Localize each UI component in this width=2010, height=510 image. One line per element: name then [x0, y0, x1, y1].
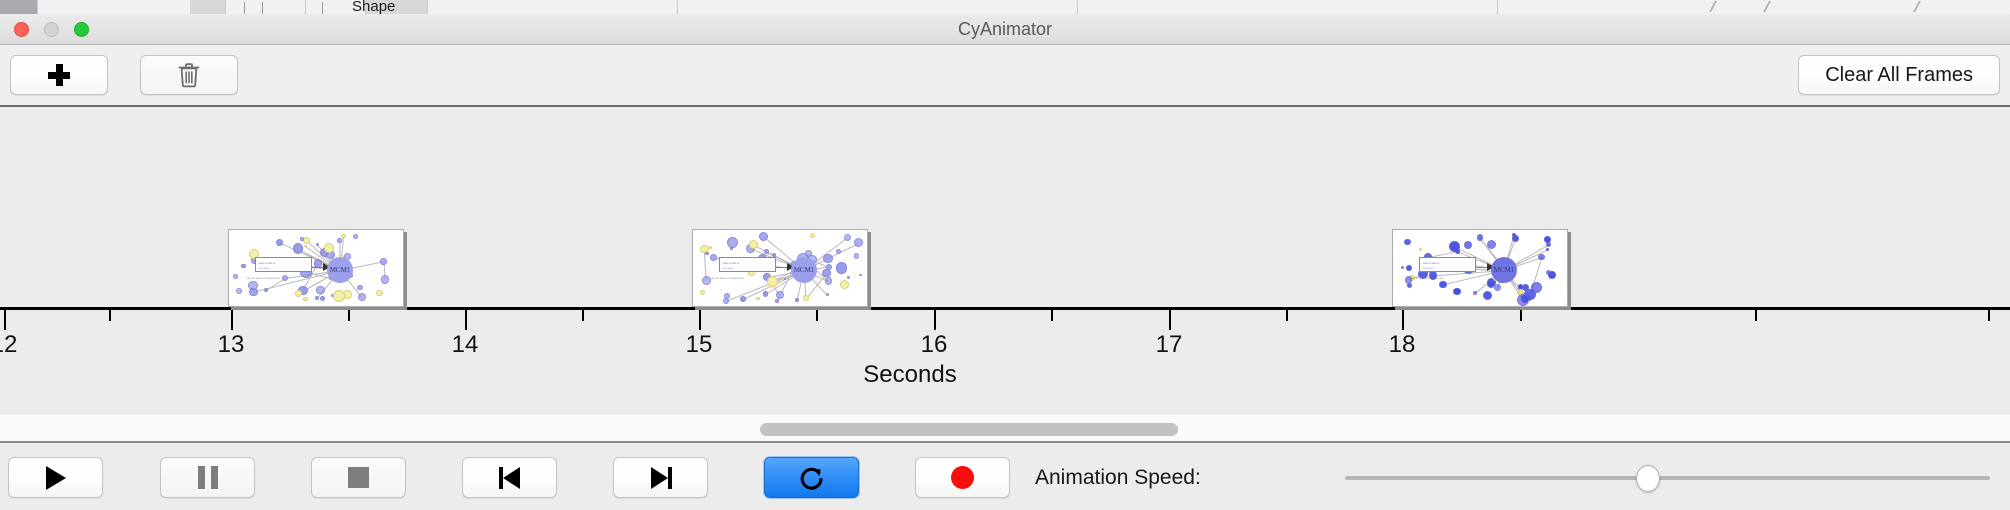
graph-node — [241, 264, 245, 268]
axis-tick-label: 12 — [0, 331, 17, 359]
play-icon — [46, 466, 66, 490]
graph-node — [775, 299, 778, 302]
animation-speed-label: Animation Speed: — [1035, 457, 1201, 498]
background-window-label: Shape — [352, 0, 395, 14]
graph-node — [756, 297, 760, 301]
graph-node — [1494, 284, 1501, 291]
skip-forward-icon — [649, 466, 673, 490]
axis-tick-minor — [1286, 310, 1288, 321]
cyanimator-window: Shape CyAnimator Clear All Frames — [0, 0, 2010, 510]
timeline-panel[interactable]: 12131415161718 ••••• •• •••• ••••• •••••… — [0, 109, 2010, 413]
axis-tick-major — [231, 310, 233, 330]
graph-node — [320, 296, 325, 301]
graph-caption: •••• ••• •••••• •• •••••••• •••• — [711, 276, 744, 280]
graph-node — [767, 276, 778, 287]
loop-button[interactable] — [764, 457, 859, 498]
slider-thumb[interactable] — [1636, 465, 1660, 492]
timeline-axis — [0, 307, 2010, 310]
graph-node — [1522, 284, 1529, 291]
graph-node — [836, 249, 841, 254]
graph-node — [822, 269, 831, 278]
add-frame-button[interactable] — [10, 55, 108, 95]
axis-tick-major — [934, 310, 936, 330]
frame-toolbar: Clear All Frames — [0, 45, 2010, 107]
network-graph: ••••• •• •••• ••••• •••••••••• ••• •••••… — [693, 230, 867, 306]
callout-text: ••••• •• •••• •• — [723, 261, 739, 265]
callout-subtext: ••• •••••• — [259, 266, 269, 270]
axis-tick-major — [1169, 310, 1171, 330]
axis-tick-label: 15 — [686, 331, 713, 359]
graph-node — [1473, 291, 1477, 295]
graph-node — [282, 275, 289, 282]
node-callout: ••••• •• •••• ••••• •••••• — [719, 257, 776, 272]
graph-caption: •••• ••• •••••• •• •••••••• •••• — [1411, 276, 1444, 280]
graph-node — [341, 234, 345, 238]
graph-node — [304, 245, 307, 248]
graph-node — [847, 276, 850, 279]
graph-node — [1453, 288, 1460, 295]
play-button[interactable] — [8, 457, 103, 498]
network-graph: ••••• •• •••• ••••• •••••••••• ••• •••••… — [1393, 230, 1567, 306]
graph-node — [795, 298, 800, 303]
graph-node — [337, 238, 342, 243]
axis-tick-minor — [1755, 310, 1757, 321]
graph-node — [700, 290, 705, 295]
graph-node — [1406, 265, 1412, 271]
graph-node — [740, 296, 746, 302]
graph-node — [859, 274, 862, 277]
graph-node — [854, 238, 863, 247]
graph-node — [300, 237, 304, 241]
frame-thumbnail[interactable]: ••••• •• •••• ••••• •••••••••• ••• •••••… — [228, 229, 404, 307]
hub-node: MCM1 — [1491, 257, 1517, 283]
hub-node: MCM1 — [327, 257, 353, 283]
slider-track — [1345, 476, 1990, 480]
graph-node — [333, 290, 345, 302]
axis-tick-major — [4, 310, 6, 330]
graph-node — [763, 291, 768, 296]
axis-tick-minor — [1988, 310, 1990, 321]
graph-node — [353, 234, 358, 239]
playback-bar: Animation Speed: — [0, 445, 2010, 510]
axis-tick-major — [465, 310, 467, 330]
graph-node — [1401, 266, 1404, 269]
axis-tick-minor — [109, 310, 111, 321]
stop-icon — [348, 467, 369, 488]
delete-frame-button[interactable] — [140, 55, 238, 95]
axis-tick-label: 14 — [452, 331, 479, 359]
graph-node — [1544, 236, 1551, 243]
graph-node — [303, 297, 307, 301]
trash-icon — [177, 62, 201, 88]
graph-node — [248, 281, 257, 290]
title-bar[interactable]: CyAnimator — [0, 14, 2010, 45]
axis-tick-label: 18 — [1389, 331, 1416, 359]
graph-caption: •••• ••• •••••• •• •••••••• •••• — [247, 276, 280, 280]
graph-node — [376, 290, 383, 297]
node-callout: ••••• •• •••• ••••• •••••• — [255, 257, 312, 272]
axis-tick-label: 17 — [1156, 331, 1183, 359]
window-title: CyAnimator — [0, 14, 2010, 45]
record-icon — [951, 466, 974, 489]
frame-thumbnail[interactable]: ••••• •• •••• ••••• •••••••••• ••• •••••… — [1392, 229, 1568, 307]
axis-tick-minor — [1520, 310, 1522, 321]
graph-node — [264, 288, 268, 292]
callout-subtext: ••• •••••• — [723, 266, 733, 270]
background-windows-strip: Shape — [0, 0, 2010, 14]
graph-node — [380, 258, 387, 265]
graph-node — [1407, 283, 1413, 289]
axis-tick-major — [699, 310, 701, 330]
graph-node — [315, 296, 319, 300]
graph-node — [749, 240, 758, 249]
graph-node — [803, 295, 809, 301]
skip-back-button[interactable] — [462, 457, 557, 498]
graph-node — [233, 274, 238, 279]
frame-thumbnail[interactable]: ••••• •• •••• ••••• •••••••••• ••• •••••… — [692, 229, 868, 307]
axis-tick-major — [1402, 310, 1404, 330]
clear-all-frames-button[interactable]: Clear All Frames — [1798, 55, 2000, 95]
animation-speed-slider[interactable] — [1345, 457, 1990, 498]
graph-node — [702, 276, 711, 285]
graph-node — [710, 254, 717, 261]
network-graph: ••••• •• •••• ••••• •••••••••• ••• •••••… — [229, 230, 403, 306]
stop-button — [311, 457, 406, 498]
graph-node — [1483, 291, 1492, 300]
graph-node — [705, 252, 708, 255]
timeline-scrollbar-thumb[interactable] — [760, 423, 1178, 436]
graph-node — [825, 277, 832, 284]
graph-node — [1439, 281, 1447, 289]
axis-tick-minor — [1051, 310, 1053, 321]
graph-node — [1487, 240, 1496, 249]
axis-tick-minor — [348, 310, 350, 321]
hub-node: MCM1 — [791, 257, 817, 283]
graph-node — [303, 237, 310, 244]
skip-back-icon — [498, 466, 522, 490]
graph-node — [764, 249, 769, 254]
axis-tick-minor — [582, 310, 584, 321]
graph-node — [810, 233, 815, 238]
callout-text: ••••• •• •••• •• — [1423, 261, 1439, 265]
pause-icon — [198, 466, 218, 489]
graph-node — [840, 280, 849, 289]
axis-tick-label: 13 — [218, 331, 245, 359]
graph-node — [1517, 294, 1529, 306]
graph-node — [357, 285, 363, 291]
graph-node — [1538, 254, 1545, 261]
graph-node — [709, 246, 712, 249]
skip-forward-button[interactable] — [613, 457, 708, 498]
graph-node — [724, 293, 730, 299]
pause-button — [160, 457, 255, 498]
graph-node — [844, 234, 851, 241]
graph-node — [316, 286, 325, 295]
graph-node — [324, 243, 334, 253]
callout-text: ••••• •• •••• •• — [259, 261, 275, 265]
graph-node — [854, 253, 859, 258]
callout-subtext: ••• •••••• — [1423, 266, 1433, 270]
plus-icon — [48, 64, 70, 86]
graph-node — [381, 275, 390, 284]
loop-icon — [798, 464, 826, 492]
graph-node — [1449, 241, 1460, 252]
graph-node — [236, 288, 242, 294]
graph-node — [1464, 241, 1472, 249]
graph-node — [727, 237, 738, 248]
graph-node — [1546, 248, 1549, 251]
axis-tick-minor — [816, 310, 818, 321]
graph-node — [358, 293, 366, 301]
node-callout: ••••• •• •••• ••••• •••••• — [1419, 257, 1476, 272]
axis-title: Seconds — [863, 361, 956, 389]
graph-node — [1531, 282, 1542, 293]
record-button[interactable] — [915, 457, 1010, 498]
timeline-scrollbar[interactable] — [0, 413, 2010, 443]
graph-node — [836, 262, 848, 274]
graph-node — [1404, 239, 1411, 246]
graph-node — [823, 254, 832, 263]
graph-node — [295, 290, 302, 297]
axis-tick-label: 16 — [921, 331, 948, 359]
graph-node — [1419, 248, 1422, 251]
